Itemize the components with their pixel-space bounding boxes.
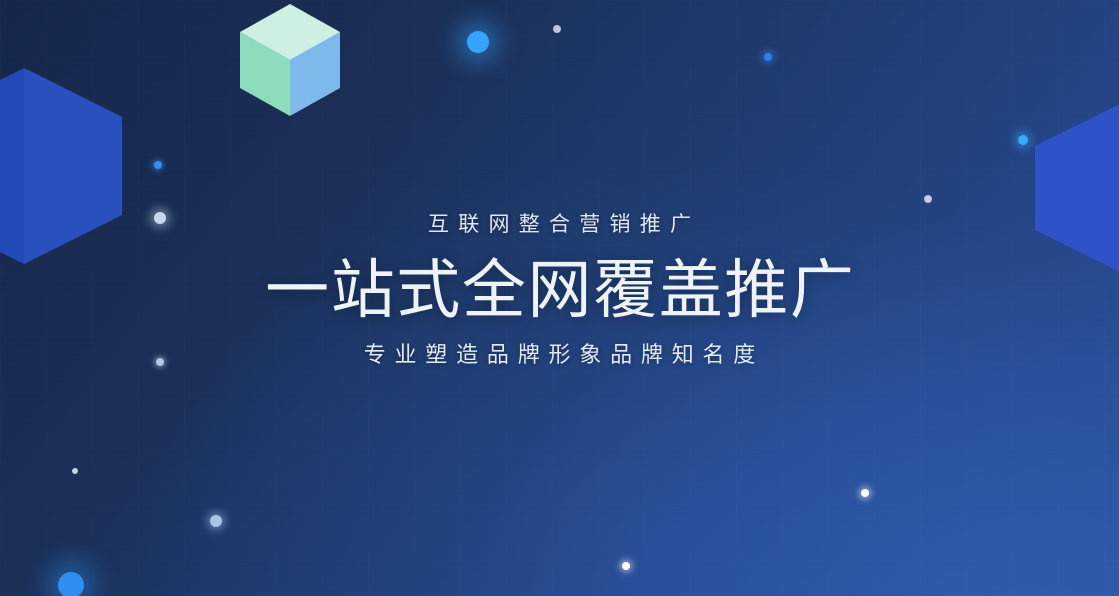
cube-logo-icon xyxy=(240,4,340,116)
hero-text-block: 互联网整合营销推广 一站式全网覆盖推广 专业塑造品牌形象品牌知名度 xyxy=(0,214,1119,366)
hero-subline: 专业塑造品牌形象品牌知名度 xyxy=(0,344,1119,366)
particle-dot xyxy=(1018,135,1028,145)
hero-headline: 一站式全网覆盖推广 xyxy=(0,257,1119,324)
particle-dot xyxy=(622,562,630,570)
particle-dot xyxy=(58,572,84,596)
particle-dot xyxy=(154,161,162,169)
particle-dot xyxy=(861,489,869,497)
particle-dot xyxy=(924,195,932,203)
particle-dot xyxy=(764,53,772,61)
particle-dot xyxy=(210,515,222,527)
particle-dot xyxy=(553,25,561,33)
particle-dot xyxy=(72,468,78,474)
particle-dot xyxy=(467,31,489,53)
hero-banner: 互联网整合营销推广 一站式全网覆盖推广 专业塑造品牌形象品牌知名度 xyxy=(0,0,1119,596)
hero-eyebrow: 互联网整合营销推广 xyxy=(0,214,1119,235)
